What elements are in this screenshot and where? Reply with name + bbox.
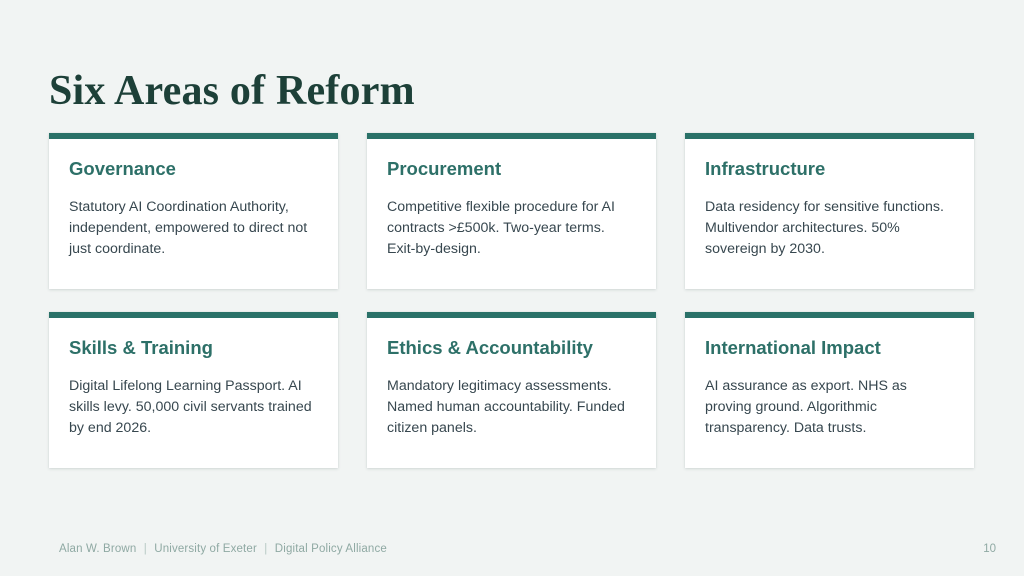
card-body: Data residency for sensitive functions. …: [705, 197, 954, 260]
slide-footer: Alan W. Brown | University of Exeter | D…: [59, 541, 387, 557]
reform-areas-grid: Governance Statutory AI Coordination Aut…: [49, 133, 974, 468]
reform-card-procurement[interactable]: Procurement Competitive flexible procedu…: [367, 133, 656, 289]
footer-separator: |: [140, 543, 151, 555]
card-body: Competitive flexible procedure for AI co…: [387, 197, 636, 260]
footer-author: Alan W. Brown: [59, 543, 136, 555]
reform-card-ethics-and-accountability[interactable]: Ethics & Accountability Mandatory legiti…: [367, 312, 656, 468]
card-title: Governance: [69, 157, 318, 181]
card-body: AI assurance as export. NHS as proving g…: [705, 376, 954, 439]
card-title: Procurement: [387, 157, 636, 181]
reform-card-governance[interactable]: Governance Statutory AI Coordination Aut…: [49, 133, 338, 289]
card-body: Digital Lifelong Learning Passport. AI s…: [69, 376, 318, 439]
slide: Six Areas of Reform Governance Statutory…: [0, 0, 1024, 576]
card-title: International Impact: [705, 336, 954, 360]
footer-separator: |: [260, 543, 271, 555]
card-title: Skills & Training: [69, 336, 318, 360]
footer-organisation: Digital Policy Alliance: [275, 543, 387, 555]
card-body: Mandatory legitimacy assessments. Named …: [387, 376, 636, 439]
reform-card-infrastructure[interactable]: Infrastructure Data residency for sensit…: [685, 133, 974, 289]
card-title: Infrastructure: [705, 157, 954, 181]
reform-card-skills-and-training[interactable]: Skills & Training Digital Lifelong Learn…: [49, 312, 338, 468]
footer-affiliation: University of Exeter: [154, 543, 257, 555]
card-body: Statutory AI Coordination Authority, ind…: [69, 197, 318, 260]
page-number: 10: [983, 541, 996, 557]
reform-card-international-impact[interactable]: International Impact AI assurance as exp…: [685, 312, 974, 468]
page-title: Six Areas of Reform: [49, 66, 415, 116]
card-title: Ethics & Accountability: [387, 336, 636, 360]
